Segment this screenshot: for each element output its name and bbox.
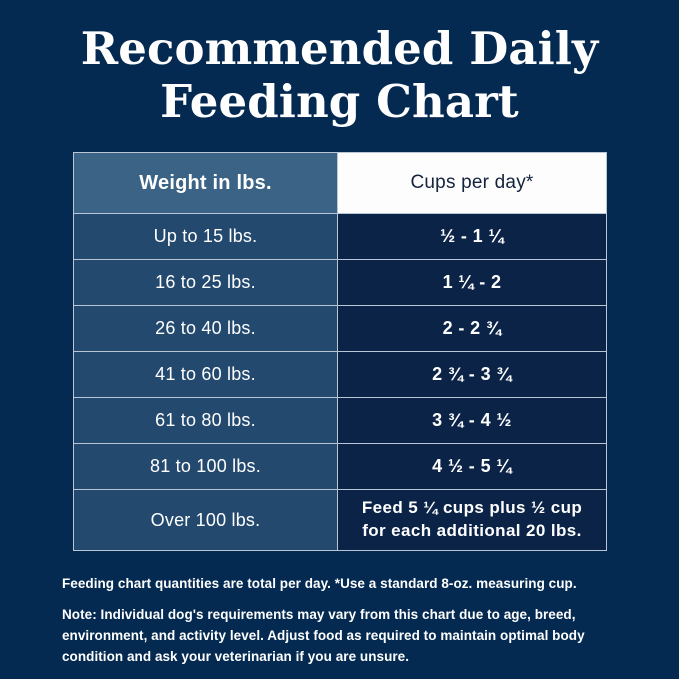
table-row: 16 to 25 lbs. 1 ¼ - 2 bbox=[74, 260, 607, 306]
cell-weight: 16 to 25 lbs. bbox=[74, 260, 338, 306]
cell-weight: 81 to 100 lbs. bbox=[74, 444, 338, 490]
footnote-note-line-1: Note: Individual dog's requirements may … bbox=[62, 605, 622, 626]
column-header-weight: Weight in lbs. bbox=[74, 153, 338, 214]
table-row: 61 to 80 lbs. 3 ¾ - 4 ½ bbox=[74, 398, 607, 444]
cell-weight: 41 to 60 lbs. bbox=[74, 352, 338, 398]
cell-cups: 3 ¾ - 4 ½ bbox=[338, 398, 607, 444]
footnotes: Feeding chart quantities are total per d… bbox=[62, 574, 622, 668]
table-row: 81 to 100 lbs. 4 ½ - 5 ¼ bbox=[74, 444, 607, 490]
cell-cups-line-1: Feed 5 ¼ cups plus ½ cup bbox=[348, 497, 596, 520]
cell-weight: Over 100 lbs. bbox=[74, 490, 338, 551]
cell-weight: 26 to 40 lbs. bbox=[74, 306, 338, 352]
cell-weight: 61 to 80 lbs. bbox=[74, 398, 338, 444]
table-row: Over 100 lbs. Feed 5 ¼ cups plus ½ cup f… bbox=[74, 490, 607, 551]
page-title: Recommended Daily Feeding Chart bbox=[0, 22, 679, 128]
footnote-note: Note: Individual dog's requirements may … bbox=[62, 605, 622, 668]
cell-weight: Up to 15 lbs. bbox=[74, 214, 338, 260]
page-title-line-2: Feeding Chart bbox=[0, 75, 679, 128]
table-row: 26 to 40 lbs. 2 - 2 ¾ bbox=[74, 306, 607, 352]
cell-cups: 1 ¼ - 2 bbox=[338, 260, 607, 306]
cell-cups-line-2: for each additional 20 lbs. bbox=[348, 520, 596, 543]
cell-cups: 2 ¾ - 3 ¾ bbox=[338, 352, 607, 398]
table-header-row: Weight in lbs. Cups per day* bbox=[74, 153, 607, 214]
cell-cups: 4 ½ - 5 ¼ bbox=[338, 444, 607, 490]
footnote-note-line-3: condition and ask your veterinarian if y… bbox=[62, 647, 622, 668]
column-header-cups: Cups per day* bbox=[338, 153, 607, 214]
footnote-quantities: Feeding chart quantities are total per d… bbox=[62, 574, 622, 594]
table-row: Up to 15 lbs. ½ - 1 ¼ bbox=[74, 214, 607, 260]
page-title-line-1: Recommended Daily bbox=[0, 22, 679, 75]
footnote-note-line-2: environment, and activity level. Adjust … bbox=[62, 626, 622, 647]
table-row: 41 to 60 lbs. 2 ¾ - 3 ¾ bbox=[74, 352, 607, 398]
feeding-chart-page: Recommended Daily Feeding Chart Weight i… bbox=[0, 0, 679, 679]
cell-cups: Feed 5 ¼ cups plus ½ cup for each additi… bbox=[338, 490, 607, 551]
cell-cups: 2 - 2 ¾ bbox=[338, 306, 607, 352]
cell-cups: ½ - 1 ¼ bbox=[338, 214, 607, 260]
feeding-chart-table: Weight in lbs. Cups per day* Up to 15 lb… bbox=[73, 152, 607, 551]
